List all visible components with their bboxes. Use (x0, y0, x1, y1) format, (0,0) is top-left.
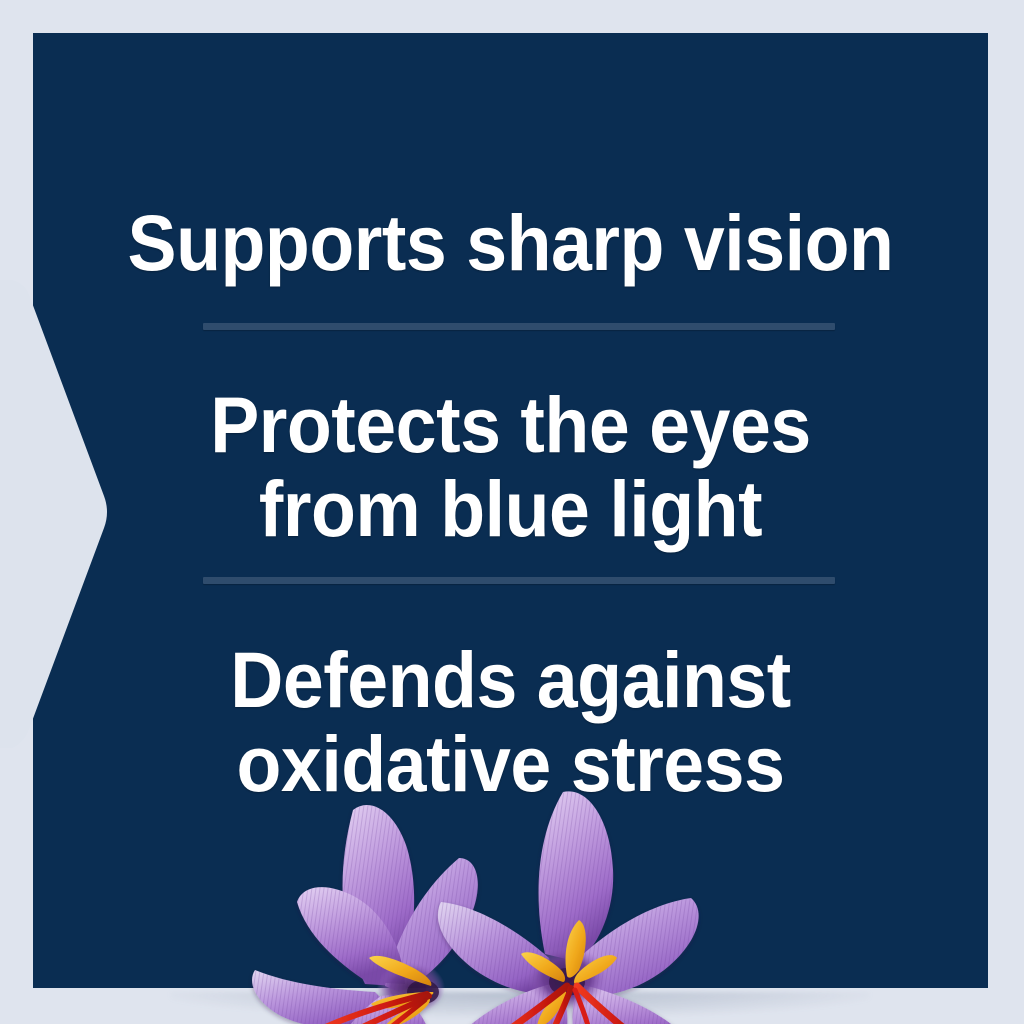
panel-ground-shadow (170, 992, 870, 1018)
claim-oxidative-stress: Defends against oxidative stress (66, 638, 954, 805)
divider-1 (203, 323, 835, 330)
divider-2 (203, 577, 835, 584)
claim-sharp-vision: Supports sharp vision (66, 201, 954, 285)
claims-stack: Supports sharp vision Protects the eyes … (33, 33, 988, 988)
poster-canvas: Supports sharp vision Protects the eyes … (0, 0, 1024, 1024)
claim-blue-light: Protects the eyes from blue light (66, 383, 954, 550)
